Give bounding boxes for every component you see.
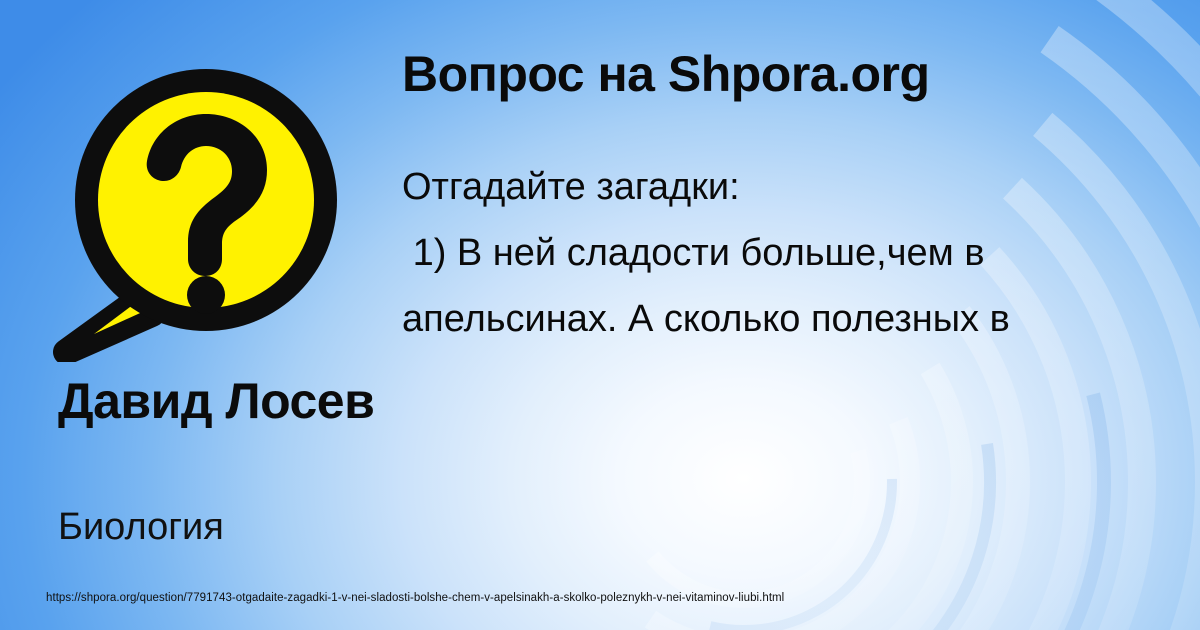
- question-speech-bubble-icon: [48, 52, 358, 362]
- source-url: https://shpora.org/question/7791743-otga…: [46, 592, 784, 604]
- author-subject: Биология: [58, 508, 378, 548]
- question-share-card: Давид Лосев Биология Вопрос на Shpora.or…: [0, 0, 1200, 630]
- author-name: Давид Лосев: [58, 378, 378, 426]
- question-text: Отгадайте загадки: 1) В ней сладости бол…: [402, 154, 1192, 352]
- page-title: Вопрос на Shpora.org: [402, 48, 1182, 101]
